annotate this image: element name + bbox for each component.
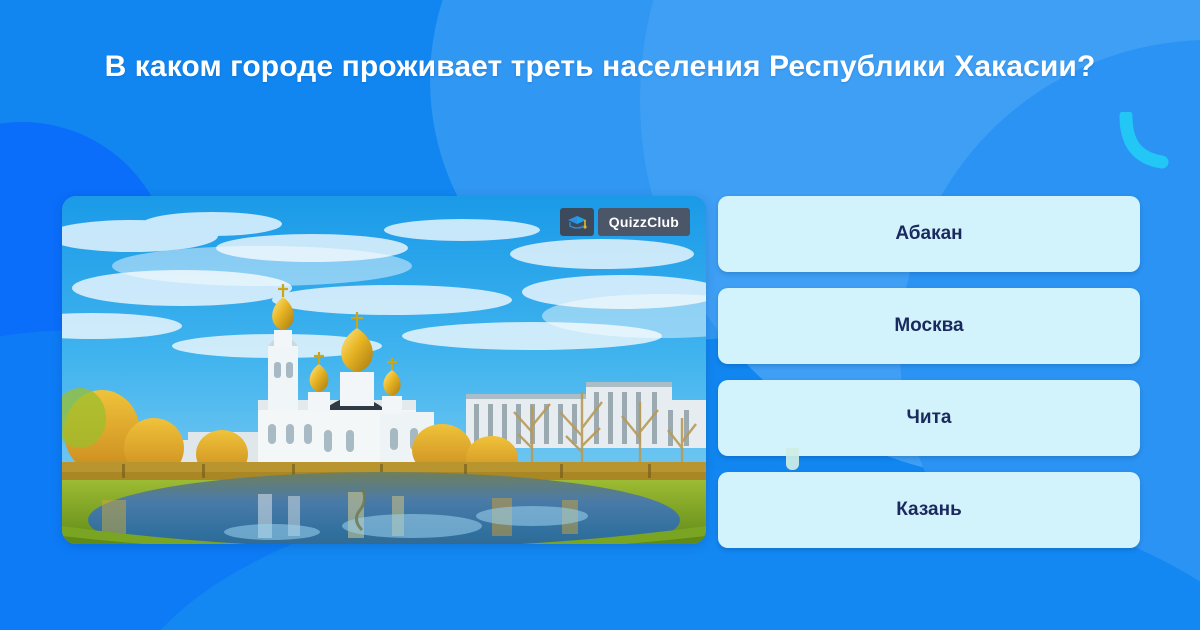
answer-option-1-label: Абакан (895, 223, 962, 245)
quiz-question-card: В каком городе проживает треть населения… (0, 0, 1200, 630)
graduation-cap-icon (560, 208, 594, 236)
page-title: В каком городе проживает треть населения… (60, 46, 1140, 89)
cyan-arc-accent-icon (1118, 112, 1176, 170)
question-image: QuizzClub (62, 196, 706, 544)
answer-option-4[interactable]: Казань (718, 472, 1140, 548)
watermark-badge: QuizzClub (560, 208, 690, 236)
answer-option-3-notch (786, 448, 799, 470)
cathedral-pond-illustration (62, 196, 706, 544)
answer-option-2[interactable]: Москва (718, 288, 1140, 364)
answer-option-3-label: Чита (907, 407, 952, 429)
watermark-brand-label: QuizzClub (598, 208, 690, 236)
answer-option-2-label: Москва (894, 315, 963, 337)
answer-option-1[interactable]: Абакан (718, 196, 1140, 272)
answer-option-3[interactable]: Чита (718, 380, 1140, 456)
answer-options-list: Абакан Москва Чита Казань (718, 196, 1140, 548)
answer-option-4-label: Казань (896, 499, 962, 521)
